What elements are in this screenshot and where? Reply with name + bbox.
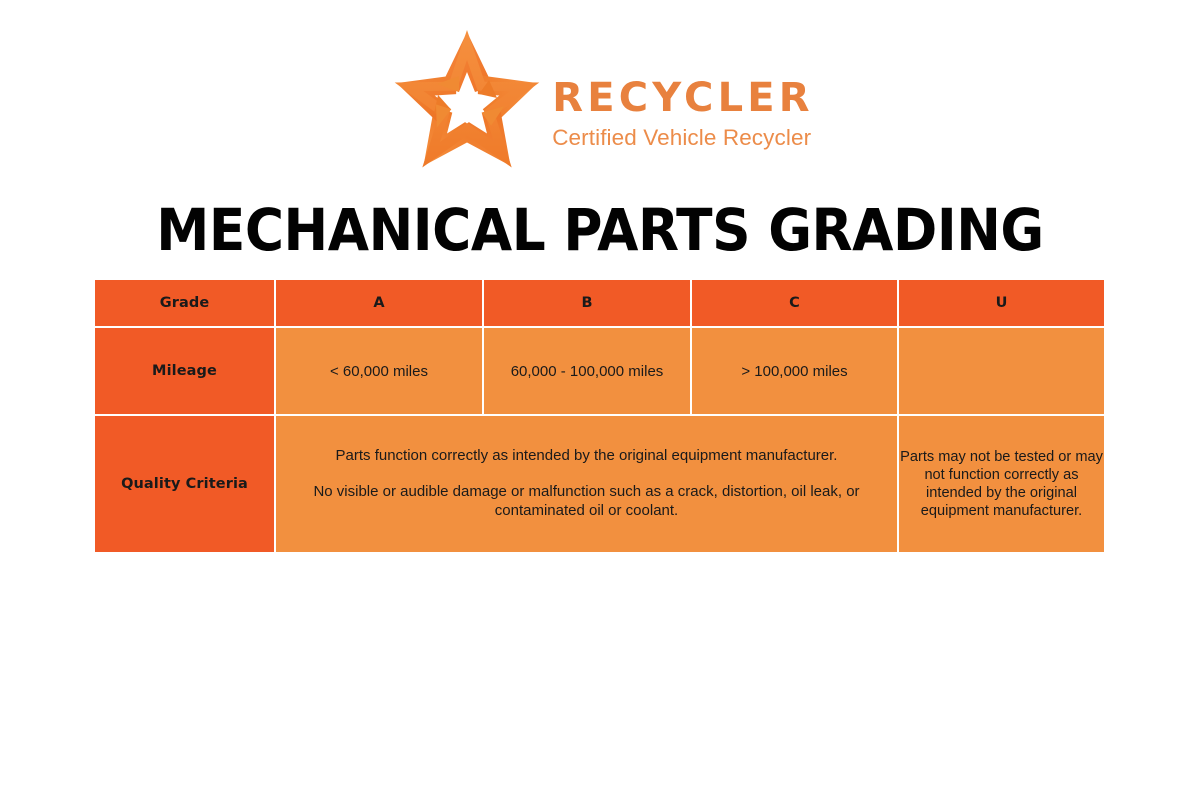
header-cell-grade: Grade: [95, 280, 276, 328]
quality-criteria-cell-abc: Parts function correctly as intended by …: [276, 416, 899, 552]
row-label-quality-criteria: Quality Criteria: [95, 416, 276, 552]
mileage-cell-u: [899, 328, 1104, 416]
page-title: MECHANICAL PARTS GRADING: [48, 196, 1152, 264]
mileage-cell-c: > 100,000 miles: [692, 328, 899, 416]
row-label-mileage: Mileage: [95, 328, 276, 416]
mileage-cell-b: 60,000 - 100,000 miles: [484, 328, 692, 416]
logo-inner: RECYCLER Certified Vehicle Recycler: [386, 30, 814, 182]
quality-criteria-paragraph-1: Parts function correctly as intended by …: [276, 447, 897, 466]
header-cell-grade-a: A: [276, 280, 484, 328]
quality-criteria-u-text: Parts may not be tested or may not funct…: [899, 448, 1104, 520]
logo-tagline: Certified Vehicle Recycler: [552, 125, 811, 151]
header-cell-grade-b: B: [484, 280, 692, 328]
table-header-row: Grade A B C U: [95, 280, 1104, 328]
quality-criteria-paragraph-2: No visible or audible damage or malfunct…: [276, 483, 897, 521]
quality-criteria-cell-u: Parts may not be tested or may not funct…: [899, 416, 1104, 552]
header-cell-grade-c: C: [692, 280, 899, 328]
table-row-quality-criteria: Quality Criteria Parts function correctl…: [95, 416, 1104, 552]
recycling-star-icon: [386, 30, 548, 182]
logo-text-group: RECYCLER Certified Vehicle Recycler: [552, 61, 814, 151]
table-row-mileage: Mileage < 60,000 miles 60,000 - 100,000 …: [95, 328, 1104, 416]
mechanical-parts-grading-table: Grade A B C U Mileage < 60,000 miles 60,…: [95, 280, 1104, 552]
header-cell-grade-u: U: [899, 280, 1104, 328]
brand-logo: RECYCLER Certified Vehicle Recycler: [0, 26, 1200, 186]
logo-wordmark: RECYCLER: [552, 77, 814, 119]
mileage-cell-a: < 60,000 miles: [276, 328, 484, 416]
page-root: RECYCLER Certified Vehicle Recycler MECH…: [0, 0, 1200, 800]
